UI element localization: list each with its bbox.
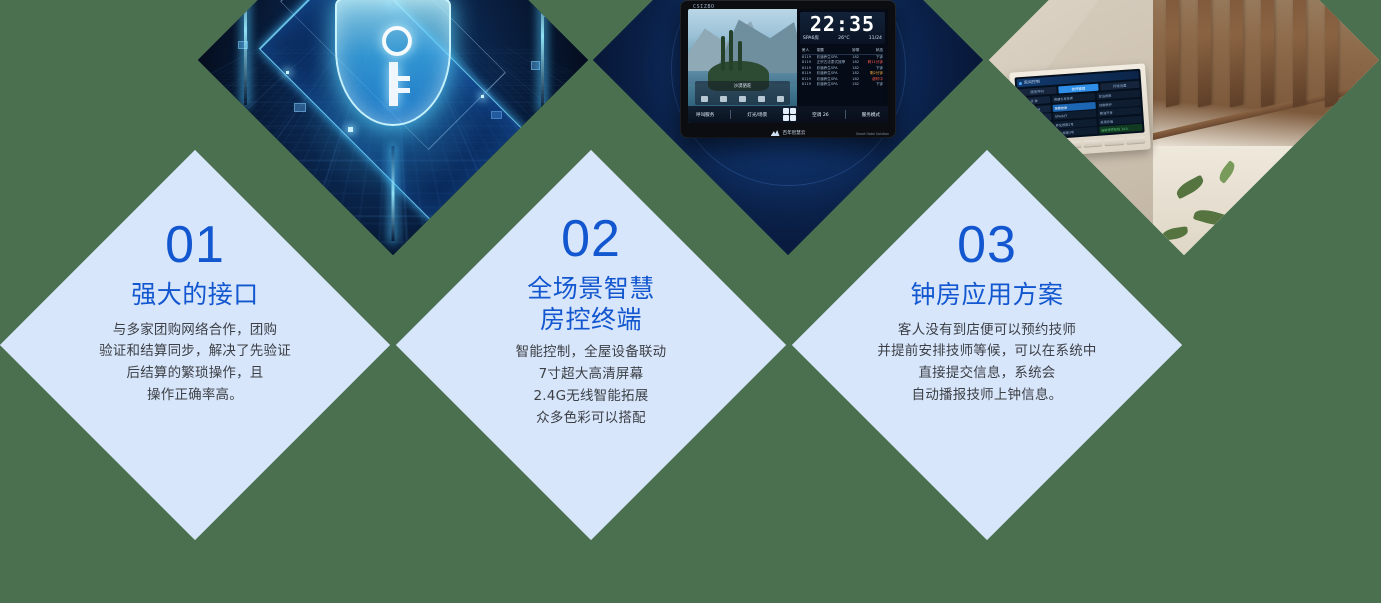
text-line: 众多色彩可以搭配 <box>516 408 667 430</box>
wall-panel-side-button[interactable]: 点 钟 <box>1018 96 1050 105</box>
card-number: 02 <box>561 213 621 265</box>
chip-block-icon <box>531 61 540 70</box>
chip-block-icon <box>220 0 236 9</box>
wood-slat <box>1166 0 1179 108</box>
card-body: 与多家团购网络合作，团购验证和结算同步，解决了先验证后结算的繁琐操作，且操作正确… <box>99 320 291 407</box>
spark-dot <box>286 71 289 74</box>
text-line: 自动播报技师上钟信息。 <box>877 385 1096 407</box>
divider <box>730 110 731 119</box>
hw-key[interactable] <box>1083 139 1103 147</box>
wood-slat <box>1198 0 1211 108</box>
status-dot-icon <box>1019 81 1022 84</box>
wall-panel-tab[interactable]: 服务呼叫 <box>1018 86 1058 96</box>
media-track-label: 沙漠骆驼 <box>695 83 791 89</box>
tree-shape <box>721 36 725 70</box>
wall-panel-list-item[interactable]: 保健专享技师 <box>1052 93 1096 103</box>
keyhole-icon <box>389 62 398 106</box>
clock-meta: SPA6房 26°C 11/24 <box>803 35 882 41</box>
text-line: 并提前安排技师等候，可以在系统中 <box>877 341 1096 363</box>
wall-panel-side-button[interactable]: CALL钟 <box>1019 104 1051 113</box>
next-icon[interactable] <box>739 96 746 102</box>
clock-time: 22:35 <box>803 14 882 34</box>
wall-panel-side-button[interactable]: 加钟预约 <box>1020 121 1052 130</box>
table-body: 8119彩道养生SPA182下钟8119正宗古法泰式按摩182剩11分钟8119… <box>802 55 883 88</box>
device-screen: 沙漠骆驼 <box>688 9 888 123</box>
feature-diamond-banner: CSIZBO 沙漠骆驼 <box>0 0 1381 603</box>
feature-card-01[interactable]: 01 强大的接口 与多家团购网络合作，团购验证和结算同步，解决了先验证后结算的繁… <box>0 150 390 540</box>
brand-logo-icon <box>771 130 780 136</box>
wood-slat <box>1230 0 1243 108</box>
wall-panel-list-item[interactable]: 当前技师在线 14人 <box>1099 124 1143 134</box>
card-heading: 强大的接口 <box>131 280 259 311</box>
tree-shape <box>738 41 742 71</box>
col-header: 房人 <box>802 48 817 54</box>
hw-key[interactable] <box>1105 138 1125 146</box>
wood-slat <box>1325 0 1338 108</box>
play-icon[interactable] <box>720 96 727 102</box>
apps-grid-icon[interactable] <box>783 108 796 121</box>
footer-tagline: Smart Hotel Solution <box>856 132 889 136</box>
hw-key[interactable] <box>1020 144 1040 152</box>
col-header: 菜题 <box>817 48 853 54</box>
temperature-label: 26°C <box>838 35 849 40</box>
table-cell: 彩道养生SPA <box>817 82 853 88</box>
prev-icon[interactable] <box>701 96 708 102</box>
footer-brand: 百年智慧云 <box>783 130 806 136</box>
light-beam <box>541 0 544 111</box>
date-label: 11/24 <box>869 35 882 40</box>
card-body: 智能控制，全屋设备联动7寸超大高清屏幕2.4G无线智能拓展众多色彩可以搭配 <box>516 342 667 429</box>
light-beam <box>392 146 395 241</box>
hw-key[interactable] <box>1041 142 1061 150</box>
wall-control-panel[interactable]: 房间控制 服务呼叫技师管理环境设置 点 钟CALL钟圈 钟加钟预约直 钟 保健专… <box>1010 63 1152 158</box>
card-number: 03 <box>957 219 1017 271</box>
quick-action-light[interactable]: 灯光/场景 <box>747 112 767 118</box>
text-line: 与多家团购网络合作，团购 <box>99 320 291 342</box>
hw-key[interactable] <box>1062 141 1082 149</box>
divider <box>845 110 846 119</box>
text-line: 直接提交信息，系统会 <box>877 363 1096 385</box>
quick-action-mode[interactable]: 服务模式 <box>862 112 880 118</box>
wall-panel-body: 点 钟CALL钟圈 钟加钟预约直 钟 保健专享技师足浴按摩保健按摩修脚养护SPA… <box>1018 90 1143 139</box>
wall-panel-hardware-keys[interactable] <box>1020 136 1146 152</box>
quick-action-call[interactable]: 呼叫服务 <box>696 112 714 118</box>
feature-card-03[interactable]: 03 钟房应用方案 客人没有到店便可以预约技师并提前安排技师等候，可以在系统中直… <box>792 150 1182 540</box>
list-icon[interactable] <box>777 96 784 102</box>
text-line: 操作正确率高。 <box>99 385 291 407</box>
card-heading: 钟房应用方案 <box>910 280 1063 311</box>
card-heading: 全场景智慧房控终端 <box>527 274 655 335</box>
chip-block-icon <box>294 103 306 112</box>
col-header: 钟带 <box>852 48 865 54</box>
table-cell: 182 <box>852 82 865 88</box>
wall-panel-side-button[interactable]: 圈 钟 <box>1020 113 1052 122</box>
hw-key[interactable] <box>1126 136 1146 144</box>
room-background-view <box>1153 0 1379 255</box>
media-player-bar[interactable]: 沙漠骆驼 <box>695 81 791 105</box>
spark-dot <box>348 127 353 132</box>
text-line: 验证和结算同步，解决了先验证 <box>99 341 291 363</box>
tree-shape <box>729 30 733 71</box>
text-line: 房控终端 <box>527 305 655 336</box>
spark-dot <box>481 95 484 98</box>
quick-action-bar[interactable]: 呼叫服务 灯光/场景 空调 26 服务模式 <box>688 106 888 123</box>
feature-card-02[interactable]: 02 全场景智慧房控终端 智能控制，全屋设备联动7寸超大高清屏幕2.4G无线智能… <box>396 150 786 540</box>
wall-panel-list-item[interactable]: 精油开背 <box>1098 107 1142 117</box>
text-line: 后结算的繁琐操作，且 <box>99 363 291 385</box>
text-line: 智能控制，全屋设备联动 <box>516 342 667 364</box>
wall-panel-side-buttons[interactable]: 点 钟CALL钟圈 钟加钟预约直 钟 <box>1018 96 1053 139</box>
wall-panel-side-button[interactable]: 直 钟 <box>1021 130 1053 139</box>
wall-panel-list-item[interactable]: SPA水疗 <box>1053 110 1097 120</box>
wall-panel-list-item[interactable]: 足浴按摩 <box>1097 90 1141 100</box>
table-row: 8119彩道养生SPA182下钟 <box>802 82 883 88</box>
device-footer: 百年智慧云 Smart Hotel Solution <box>681 130 895 136</box>
col-header: 状态 <box>865 48 883 54</box>
text-line: 7寸超大高清屏幕 <box>516 364 667 386</box>
text-line: 钟房应用方案 <box>910 280 1063 311</box>
media-controls[interactable] <box>695 96 791 102</box>
wall-panel-tab[interactable]: 环境设置 <box>1100 81 1140 91</box>
text-line: 客人没有到店便可以预约技师 <box>877 320 1096 342</box>
text-line: 强大的接口 <box>131 280 259 311</box>
wall-panel-screen[interactable]: 房间控制 服务呼叫技师管理环境设置 点 钟CALL钟圈 钟加钟预约直 钟 保健专… <box>1015 68 1145 141</box>
wall-panel-title: 房间控制 <box>1024 79 1040 86</box>
wall-panel-tab[interactable]: 技师管理 <box>1059 83 1099 93</box>
text-line: 2.4G无线智能拓展 <box>516 386 667 408</box>
wall-panel-list-item[interactable]: 养生按摩3号 <box>1054 127 1098 137</box>
wood-slat <box>1261 0 1274 108</box>
floor <box>1153 146 1379 255</box>
table-cell: 8119 <box>802 82 817 88</box>
table-cell: 下钟 <box>865 82 883 88</box>
room-label: SPA6房 <box>803 35 819 41</box>
control-panel-device: CSIZBO 沙漠骆驼 <box>681 1 895 137</box>
clock-widget: 22:35 SPA6房 26°C 11/24 <box>800 12 885 44</box>
text-line: 全场景智慧 <box>527 274 655 305</box>
chip-block-icon <box>544 7 558 17</box>
volume-icon[interactable] <box>758 96 765 102</box>
wall-panel-service-list[interactable]: 保健专享技师足浴按摩保健按摩修脚养护SPA水疗精油开背养生按摩2号采耳修面养生按… <box>1052 90 1143 137</box>
card-number: 01 <box>165 219 225 271</box>
card-body: 客人没有到店便可以预约技师并提前安排技师等候，可以在系统中直接提交信息，系统会自… <box>877 320 1096 407</box>
light-beam <box>244 0 247 105</box>
wood-slat <box>1293 0 1306 108</box>
quick-action-ac[interactable]: 空调 26 <box>812 112 829 118</box>
